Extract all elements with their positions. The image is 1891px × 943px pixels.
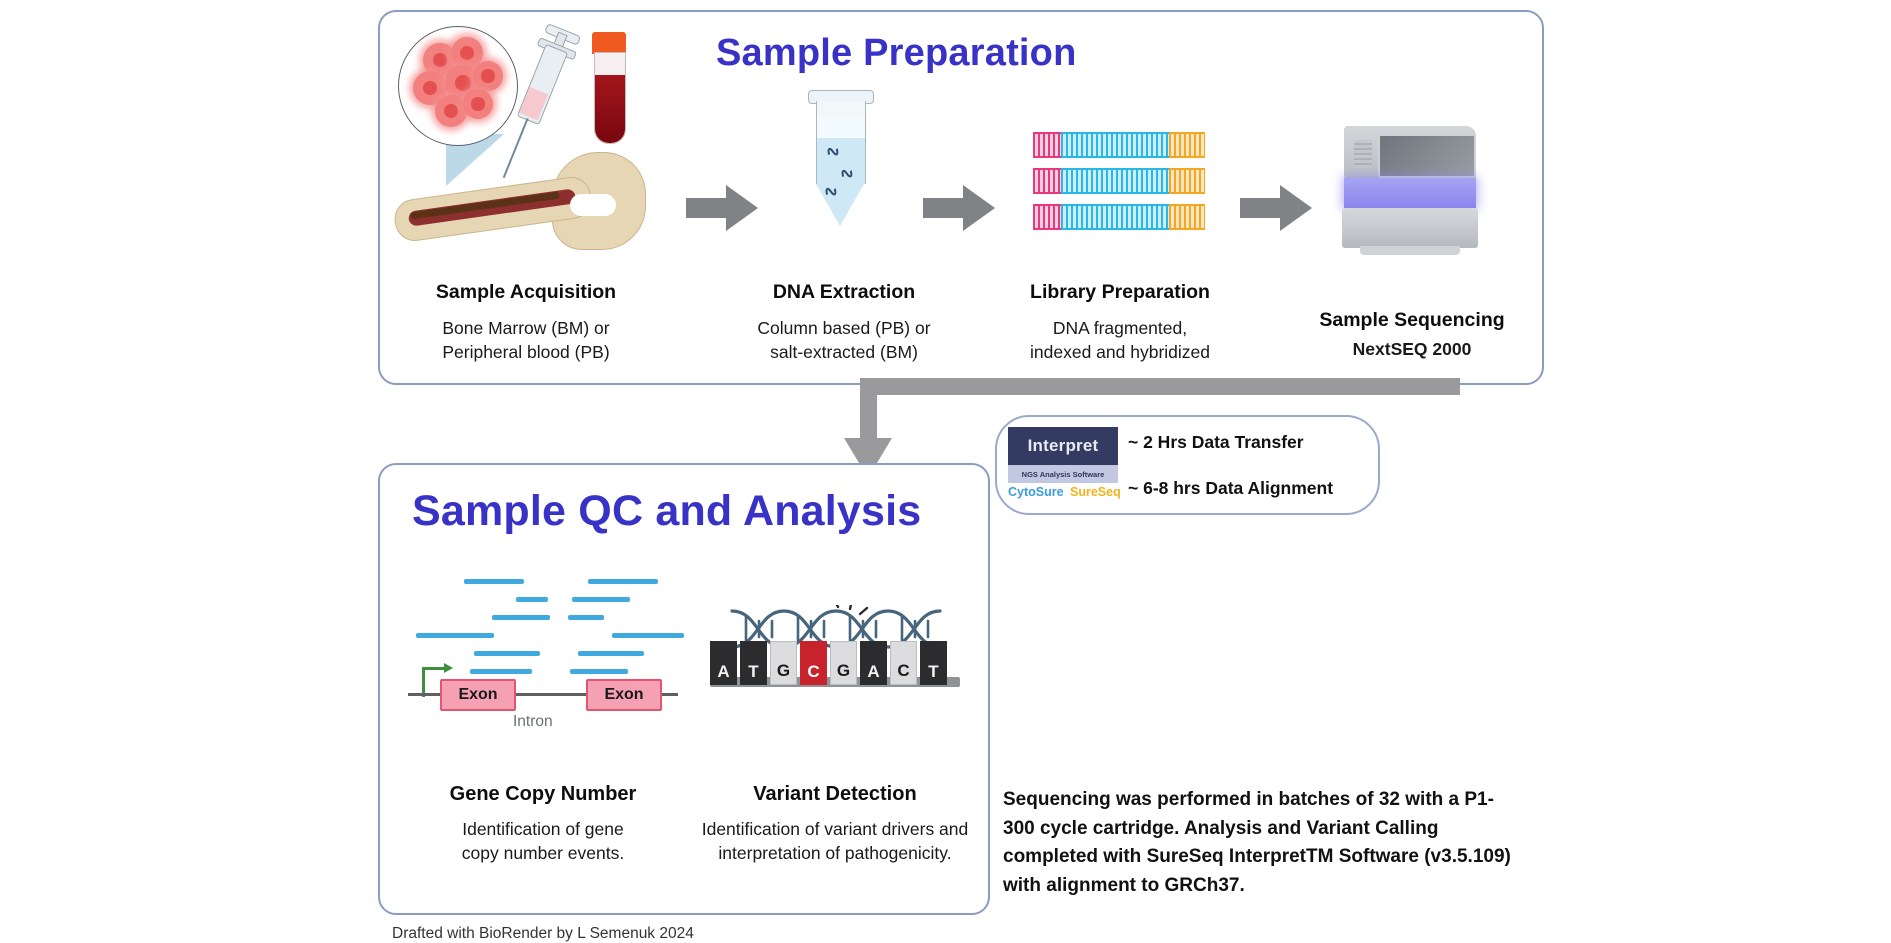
microcentrifuge-tube-icon: ∿ ∿ ∿: [800, 90, 888, 230]
logo-interpret-label: Interpret: [1008, 427, 1118, 465]
step-sub-sample-acquisition: Bone Marrow (BM) or Peripheral blood (PB…: [396, 316, 656, 364]
logo-brand-sureseq: SureSeq: [1070, 485, 1121, 499]
arrow-acquisition-to-extraction: [686, 185, 758, 231]
dna-variant-base-icon: A T G C G A C T: [710, 605, 960, 730]
callout-data-transfer-time: ~ 2 Hrs Data Transfer: [1128, 432, 1304, 453]
intron-label: Intron: [513, 713, 553, 731]
dna-library-fragments-icon: [1033, 132, 1208, 232]
sequencer-instrument-icon: [1338, 120, 1486, 260]
step-sub-sample-sequencing: NextSEQ 2000: [1282, 337, 1542, 361]
base-block-3: G: [770, 641, 797, 685]
qc-sub-gene-copy-number: Identification of gene copy number event…: [398, 817, 688, 865]
base-block-2: T: [740, 641, 767, 685]
arrow-extraction-to-library: [923, 185, 995, 231]
base-block-7: C: [890, 641, 917, 685]
read-alignment-exon-icon: Exon Exon Intron: [400, 575, 690, 720]
bone-marrow-aspiration-icon: [386, 22, 656, 257]
logo-brand-cytosure: CytoSure: [1008, 485, 1064, 499]
femur-bone-icon: [394, 150, 650, 250]
qc-head-gene-copy-number: Gene Copy Number: [398, 783, 688, 806]
panel-title-sample-preparation: Sample Preparation: [716, 32, 1077, 75]
base-block-6: A: [860, 641, 887, 685]
panel-title-sample-qc-analysis: Sample QC and Analysis: [412, 487, 921, 536]
logo-tagline: NGS Analysis Software: [1008, 465, 1118, 483]
blood-collection-tube-icon: [592, 32, 626, 154]
base-block-5: G: [830, 641, 857, 685]
methods-note-text: Sequencing was performed in batches of 3…: [1003, 786, 1513, 900]
base-block-1: A: [710, 641, 737, 685]
callout-data-alignment-time: ~ 6-8 hrs Data Alignment: [1128, 478, 1333, 499]
exon-block-1: Exon: [440, 679, 516, 711]
arrow-library-to-sequencing: [1240, 185, 1312, 231]
base-block-8: T: [920, 641, 947, 685]
step-sub-library-preparation: DNA fragmented, indexed and hybridized: [990, 316, 1250, 364]
step-head-dna-extraction: DNA Extraction: [714, 281, 974, 304]
sureseq-interpret-logo: Interpret NGS Analysis Software CytoSure…: [1008, 427, 1118, 499]
step-head-sample-acquisition: Sample Acquisition: [396, 281, 656, 304]
step-sub-dna-extraction: Column based (PB) or salt-extracted (BM): [714, 316, 974, 364]
exon-block-2: Exon: [586, 679, 662, 711]
base-block-variant: C: [800, 641, 827, 685]
figure-canvas: Sample Preparation: [0, 0, 1891, 941]
qc-head-variant-detection: Variant Detection: [690, 783, 980, 806]
figure-credit: Drafted with BioRender by L Semenuk 2024: [392, 925, 694, 943]
step-head-library-preparation: Library Preparation: [990, 281, 1250, 304]
qc-sub-variant-detection: Identification of variant drivers and in…: [672, 817, 998, 865]
step-head-sample-sequencing: Sample Sequencing: [1282, 309, 1542, 332]
